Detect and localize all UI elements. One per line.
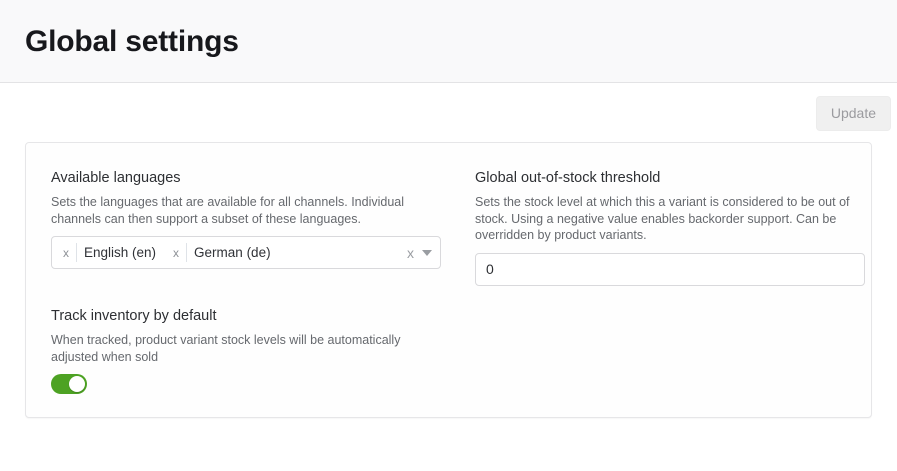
clear-icon[interactable]: x (399, 246, 422, 260)
field-label-available-languages: Available languages (51, 169, 443, 188)
field-label-out-of-stock-threshold: Global out-of-stock threshold (475, 169, 867, 188)
chevron-down-icon[interactable] (422, 250, 432, 256)
page-header: Global settings (0, 0, 897, 83)
languages-multiselect[interactable]: x English (en) x German (de) x (51, 236, 441, 269)
field-description-available-languages: Sets the languages that are available fo… (51, 194, 443, 227)
update-button[interactable]: Update (816, 96, 891, 131)
field-track-inventory-by-default: Track inventory by default When tracked,… (51, 307, 443, 394)
multiselect-actions: x (399, 237, 432, 268)
field-available-languages: Available languages Sets the languages t… (51, 169, 443, 269)
field-global-out-of-stock-threshold: Global out-of-stock threshold Sets the s… (475, 169, 867, 286)
remove-icon[interactable]: x (58, 247, 76, 259)
tag-divider (186, 243, 187, 262)
remove-icon[interactable]: x (168, 247, 186, 259)
field-description-out-of-stock-threshold: Sets the stock level at which this a var… (475, 194, 867, 244)
out-of-stock-threshold-input[interactable] (475, 253, 865, 286)
language-tag-german: x German (de) (168, 241, 273, 264)
language-tag-english: x English (en) (58, 241, 158, 264)
language-tag-label: English (en) (84, 245, 158, 260)
settings-grid: Available languages Sets the languages t… (26, 143, 873, 419)
tag-divider (76, 243, 77, 262)
settings-card: Available languages Sets the languages t… (25, 142, 872, 418)
track-inventory-toggle[interactable] (51, 374, 87, 394)
toggle-knob (69, 376, 85, 392)
global-settings-page: Global settings Update Available languag… (0, 0, 897, 471)
action-bar: Update (0, 83, 897, 142)
field-description-track-inventory: When tracked, product variant stock leve… (51, 332, 443, 365)
language-tag-label: German (de) (194, 245, 273, 260)
field-label-track-inventory: Track inventory by default (51, 307, 443, 326)
page-title: Global settings (25, 25, 239, 59)
